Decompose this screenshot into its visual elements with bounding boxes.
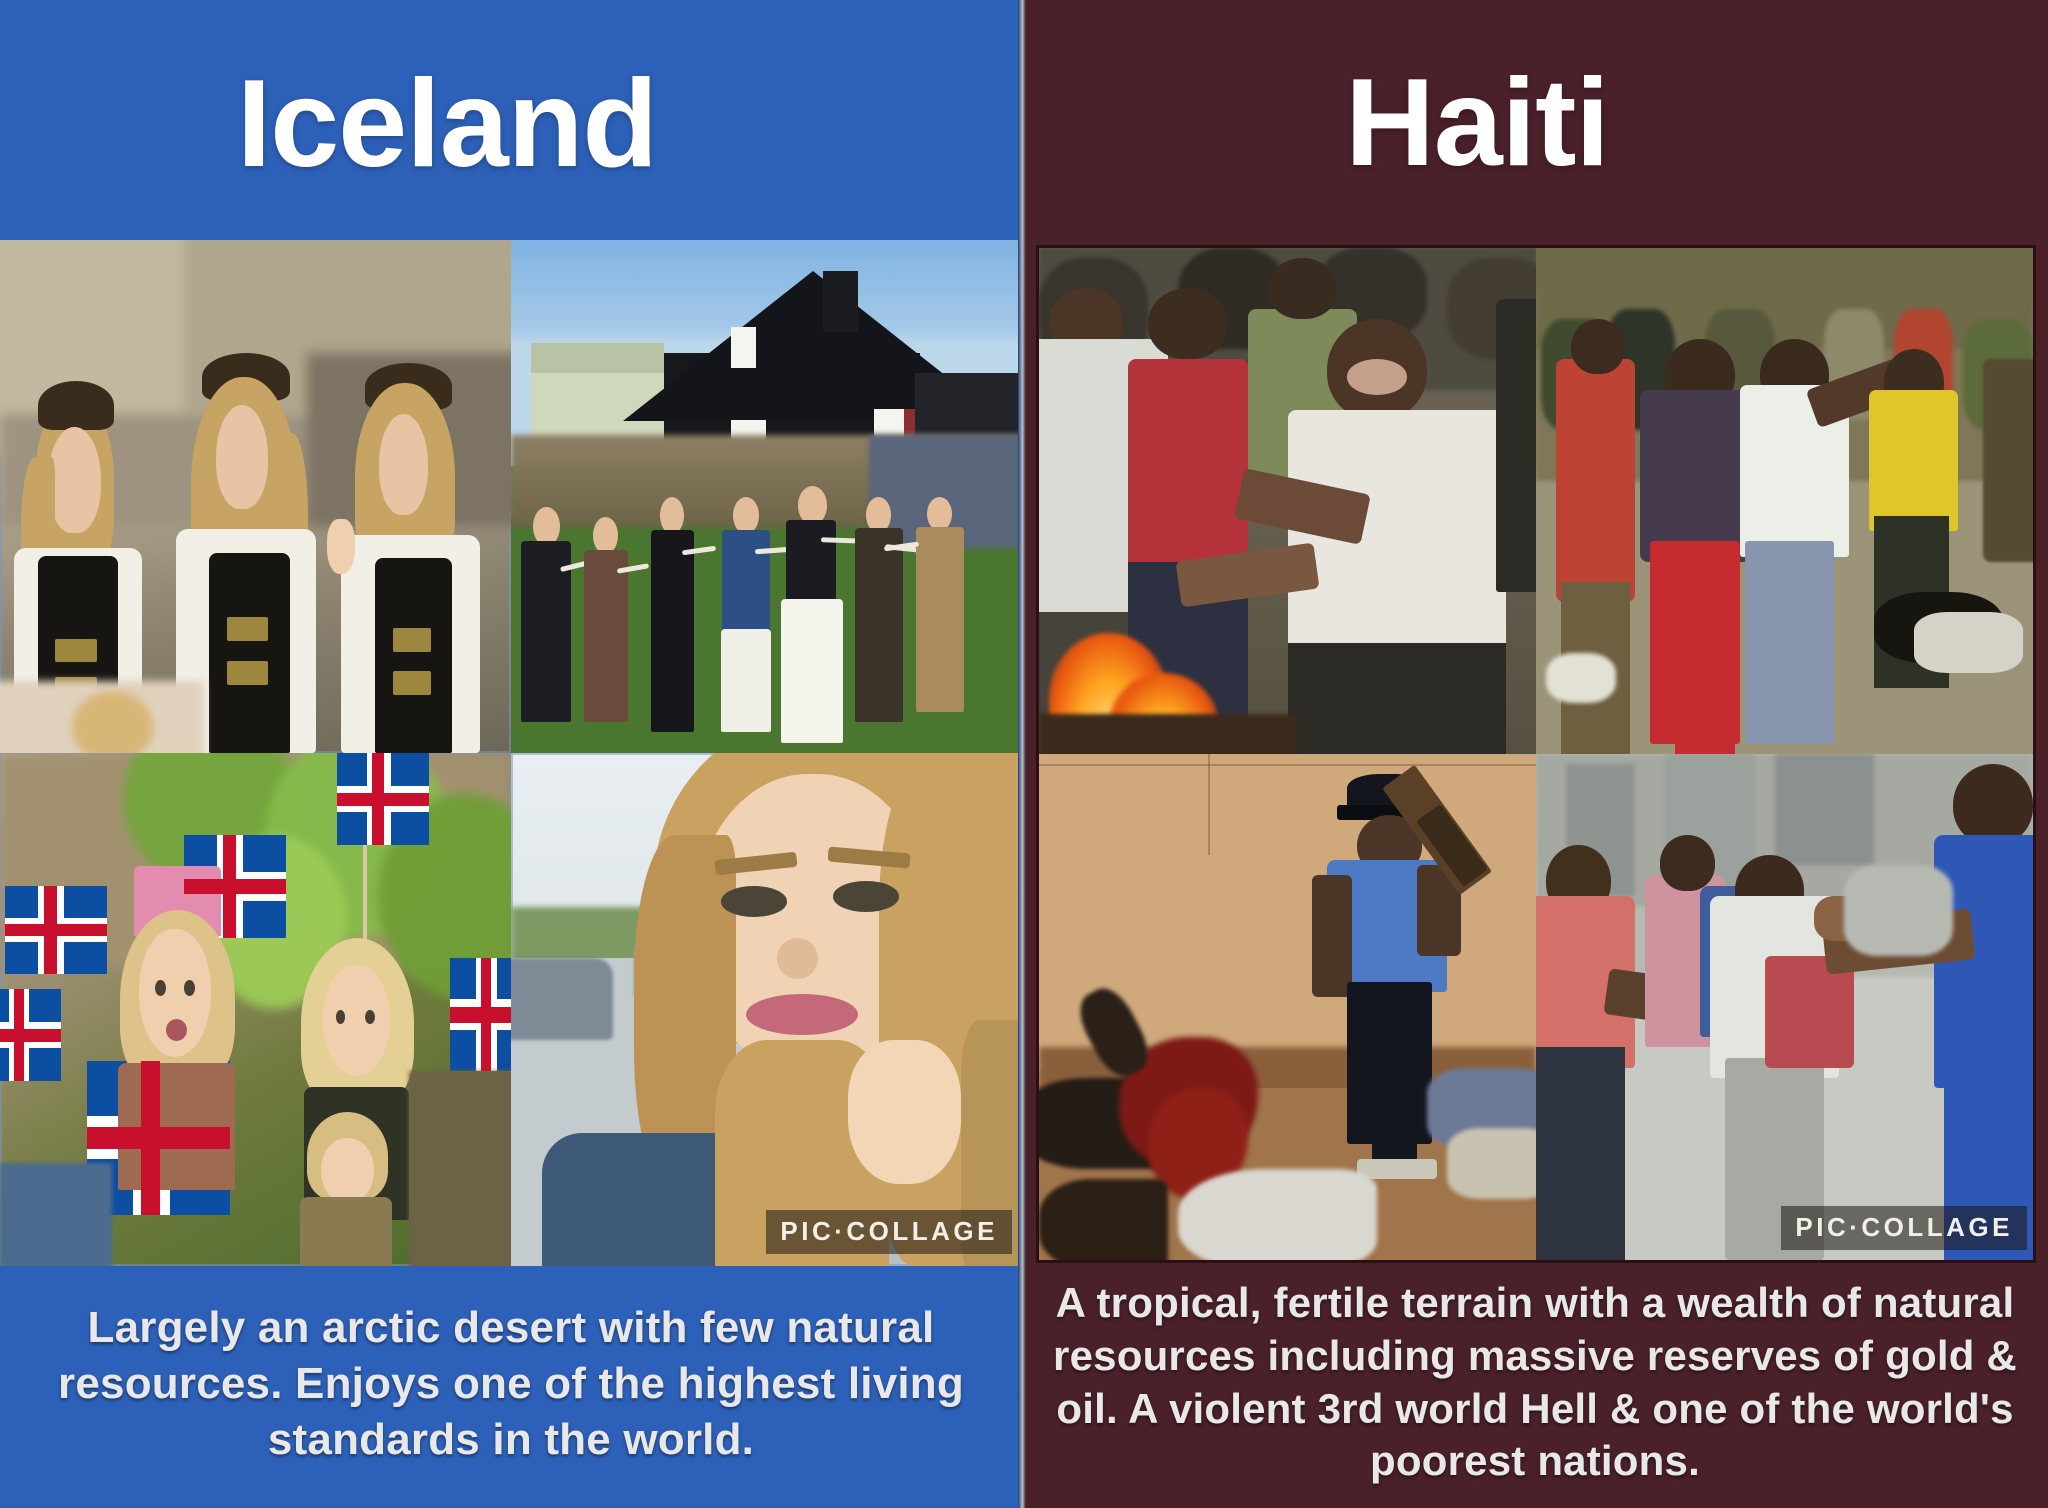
haiti-photo-grid: PIC·COLLAGE xyxy=(1036,245,2036,1263)
page-title-iceland: Iceland xyxy=(237,62,657,186)
photo-haiti-officer-with-rifle xyxy=(1039,754,1536,1260)
iceland-caption-text: Largely an arctic desert with few natura… xyxy=(8,1300,1014,1469)
panel-haiti: Haiti xyxy=(1022,0,2048,1508)
photo-iceland-children-with-flags xyxy=(0,753,511,1266)
photo-iceland-folk-costume-women xyxy=(0,240,511,753)
photo-haiti-street-scuffle: PIC·COLLAGE xyxy=(1536,754,2033,1260)
photo-haiti-crowd-with-fire xyxy=(1039,248,1536,754)
panel-divider xyxy=(1018,0,1026,1508)
iceland-title-band: Iceland xyxy=(0,0,1022,240)
haiti-caption-text: A tropical, fertile terrain with a wealt… xyxy=(1030,1277,2040,1489)
comparison-collage: Iceland xyxy=(0,0,2048,1508)
photo-iceland-folk-dance-circle xyxy=(511,240,1022,753)
iceland-photo-grid: PIC·COLLAGE xyxy=(0,240,1022,1266)
watermark-pic-collage-left: PIC·COLLAGE xyxy=(766,1210,1012,1254)
haiti-title-band: Haiti xyxy=(1022,0,2048,245)
haiti-caption: A tropical, fertile terrain with a wealt… xyxy=(1022,1263,2048,1508)
panel-iceland: Iceland xyxy=(0,0,1022,1508)
photo-haiti-street-chase xyxy=(1536,248,2033,754)
iceland-caption: Largely an arctic desert with few natura… xyxy=(0,1266,1022,1508)
photo-iceland-blonde-woman-portrait: PIC·COLLAGE xyxy=(511,753,1022,1266)
page-title-haiti: Haiti xyxy=(1345,61,1609,185)
watermark-pic-collage-right: PIC·COLLAGE xyxy=(1781,1206,2027,1250)
